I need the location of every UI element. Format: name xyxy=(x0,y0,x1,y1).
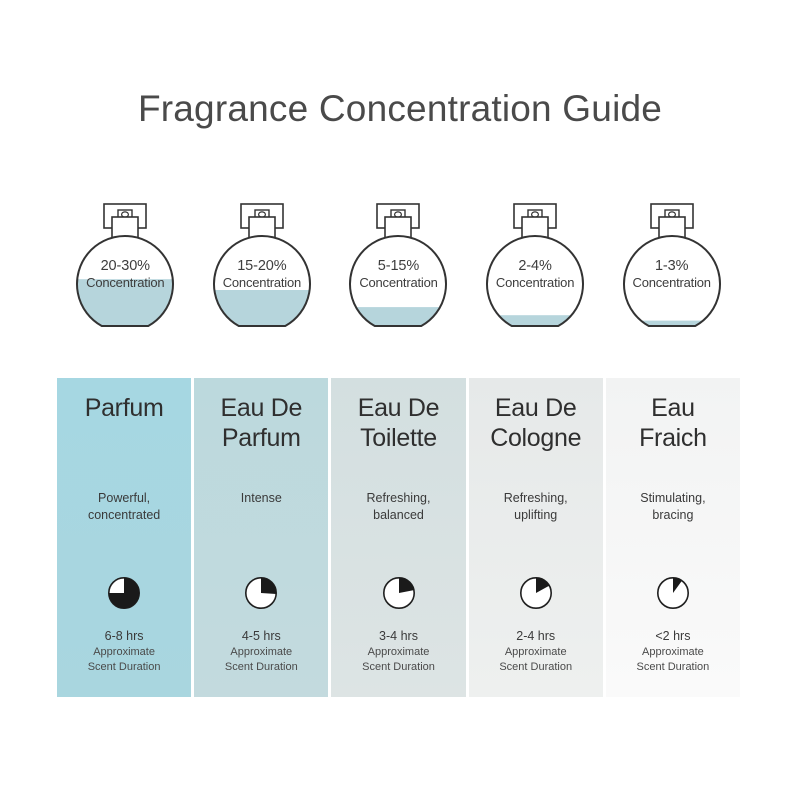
card-description-line: Powerful, xyxy=(63,490,185,507)
card-description: Intense xyxy=(194,490,328,507)
card-title-line: Parfum xyxy=(61,394,187,424)
card-description-line: uplifting xyxy=(475,507,597,524)
card-title-line: Parfum xyxy=(198,424,324,454)
bottle-liquid xyxy=(477,315,593,360)
card-title-line: Eau De xyxy=(198,394,324,424)
card-title-line: Fraich xyxy=(610,424,736,454)
card-description-line: concentrated xyxy=(63,507,185,524)
duration-note-line2: Scent Duration xyxy=(469,660,603,675)
bottle-illustration xyxy=(67,200,183,360)
card-description: Powerful,concentrated xyxy=(57,490,191,524)
card-duration: <2 hrs Approximate Scent Duration xyxy=(606,627,740,675)
infographic-canvas: Fragrance Concentration Guide 20-30% Con… xyxy=(0,0,800,800)
card-description-line: Refreshing, xyxy=(337,490,459,507)
bottle-cell-eau-de-cologne: 2-4% Concentration xyxy=(467,200,604,360)
duration-note-line1: Approximate xyxy=(57,645,191,660)
duration-note-line1: Approximate xyxy=(606,645,740,660)
bottle-cell-eau-de-parfum: 15-20% Concentration xyxy=(194,200,331,360)
duration-note-line1: Approximate xyxy=(331,645,465,660)
duration-hours: 4-5 hrs xyxy=(194,627,328,645)
cards-row: Parfum Powerful,concentrated 6-8 hrs App… xyxy=(57,378,740,697)
bottle-liquid xyxy=(67,279,183,360)
card-description-line: balanced xyxy=(337,507,459,524)
bottle-cell-eau-de-toilette: 5-15% Concentration xyxy=(330,200,467,360)
duration-note-line1: Approximate xyxy=(194,645,328,660)
bottle-illustration xyxy=(477,200,593,360)
card-title: Eau DeParfum xyxy=(194,394,328,453)
duration-hours: <2 hrs xyxy=(606,627,740,645)
bottle-cell-parfum: 20-30% Concentration xyxy=(57,200,194,360)
card-title-line: Eau De xyxy=(473,394,599,424)
duration-pie-icon xyxy=(105,574,143,612)
duration-note-line2: Scent Duration xyxy=(606,660,740,675)
card-title-line: Toilette xyxy=(335,424,461,454)
duration-pie-icon xyxy=(380,574,418,612)
duration-pie-icon xyxy=(654,574,692,612)
card-description-line: Stimulating, xyxy=(612,490,734,507)
card-title-line: Eau De xyxy=(335,394,461,424)
card-duration: 4-5 hrs Approximate Scent Duration xyxy=(194,627,328,675)
duration-note-line1: Approximate xyxy=(469,645,603,660)
card-duration: 2-4 hrs Approximate Scent Duration xyxy=(469,627,603,675)
card-title: Parfum xyxy=(57,394,191,424)
card-title: Eau DeToilette xyxy=(331,394,465,453)
card-duration: 6-8 hrs Approximate Scent Duration xyxy=(57,627,191,675)
card-description-line: Refreshing, xyxy=(475,490,597,507)
card-description: Refreshing,uplifting xyxy=(469,490,603,524)
duration-hours: 6-8 hrs xyxy=(57,627,191,645)
bottle-illustration xyxy=(204,200,320,360)
card-duration: 3-4 hrs Approximate Scent Duration xyxy=(331,627,465,675)
bottles-row: 20-30% Concentration 15-20% Concentratio… xyxy=(57,200,740,360)
bottle-illustration xyxy=(614,200,730,360)
page-title: Fragrance Concentration Guide xyxy=(0,88,800,130)
bottle-liquid xyxy=(340,307,456,360)
bottle-cell-eau-fraich: 1-3% Concentration xyxy=(603,200,740,360)
card-title: EauFraich xyxy=(606,394,740,453)
fragrance-card-eau-fraich[interactable]: EauFraich Stimulating,bracing <2 hrs App… xyxy=(606,378,740,697)
card-title: Eau DeCologne xyxy=(469,394,603,453)
card-description: Refreshing,balanced xyxy=(331,490,465,524)
duration-pie-icon xyxy=(242,574,280,612)
duration-hours: 2-4 hrs xyxy=(469,627,603,645)
fragrance-card-eau-de-parfum[interactable]: Eau DeParfum Intense 4-5 hrs Approximate… xyxy=(194,378,328,697)
duration-note-line2: Scent Duration xyxy=(57,660,191,675)
fragrance-card-parfum[interactable]: Parfum Powerful,concentrated 6-8 hrs App… xyxy=(57,378,191,697)
duration-pie-icon xyxy=(517,574,555,612)
bottle-illustration xyxy=(340,200,456,360)
card-description-line: Intense xyxy=(200,490,322,507)
duration-note-line2: Scent Duration xyxy=(331,660,465,675)
duration-note-line2: Scent Duration xyxy=(194,660,328,675)
card-description: Stimulating,bracing xyxy=(606,490,740,524)
duration-hours: 3-4 hrs xyxy=(331,627,465,645)
card-description-line: bracing xyxy=(612,507,734,524)
fragrance-card-eau-de-cologne[interactable]: Eau DeCologne Refreshing,uplifting 2-4 h… xyxy=(469,378,603,697)
card-title-line: Eau xyxy=(610,394,736,424)
fragrance-card-eau-de-toilette[interactable]: Eau DeToilette Refreshing,balanced 3-4 h… xyxy=(331,378,465,697)
card-title-line: Cologne xyxy=(473,424,599,454)
